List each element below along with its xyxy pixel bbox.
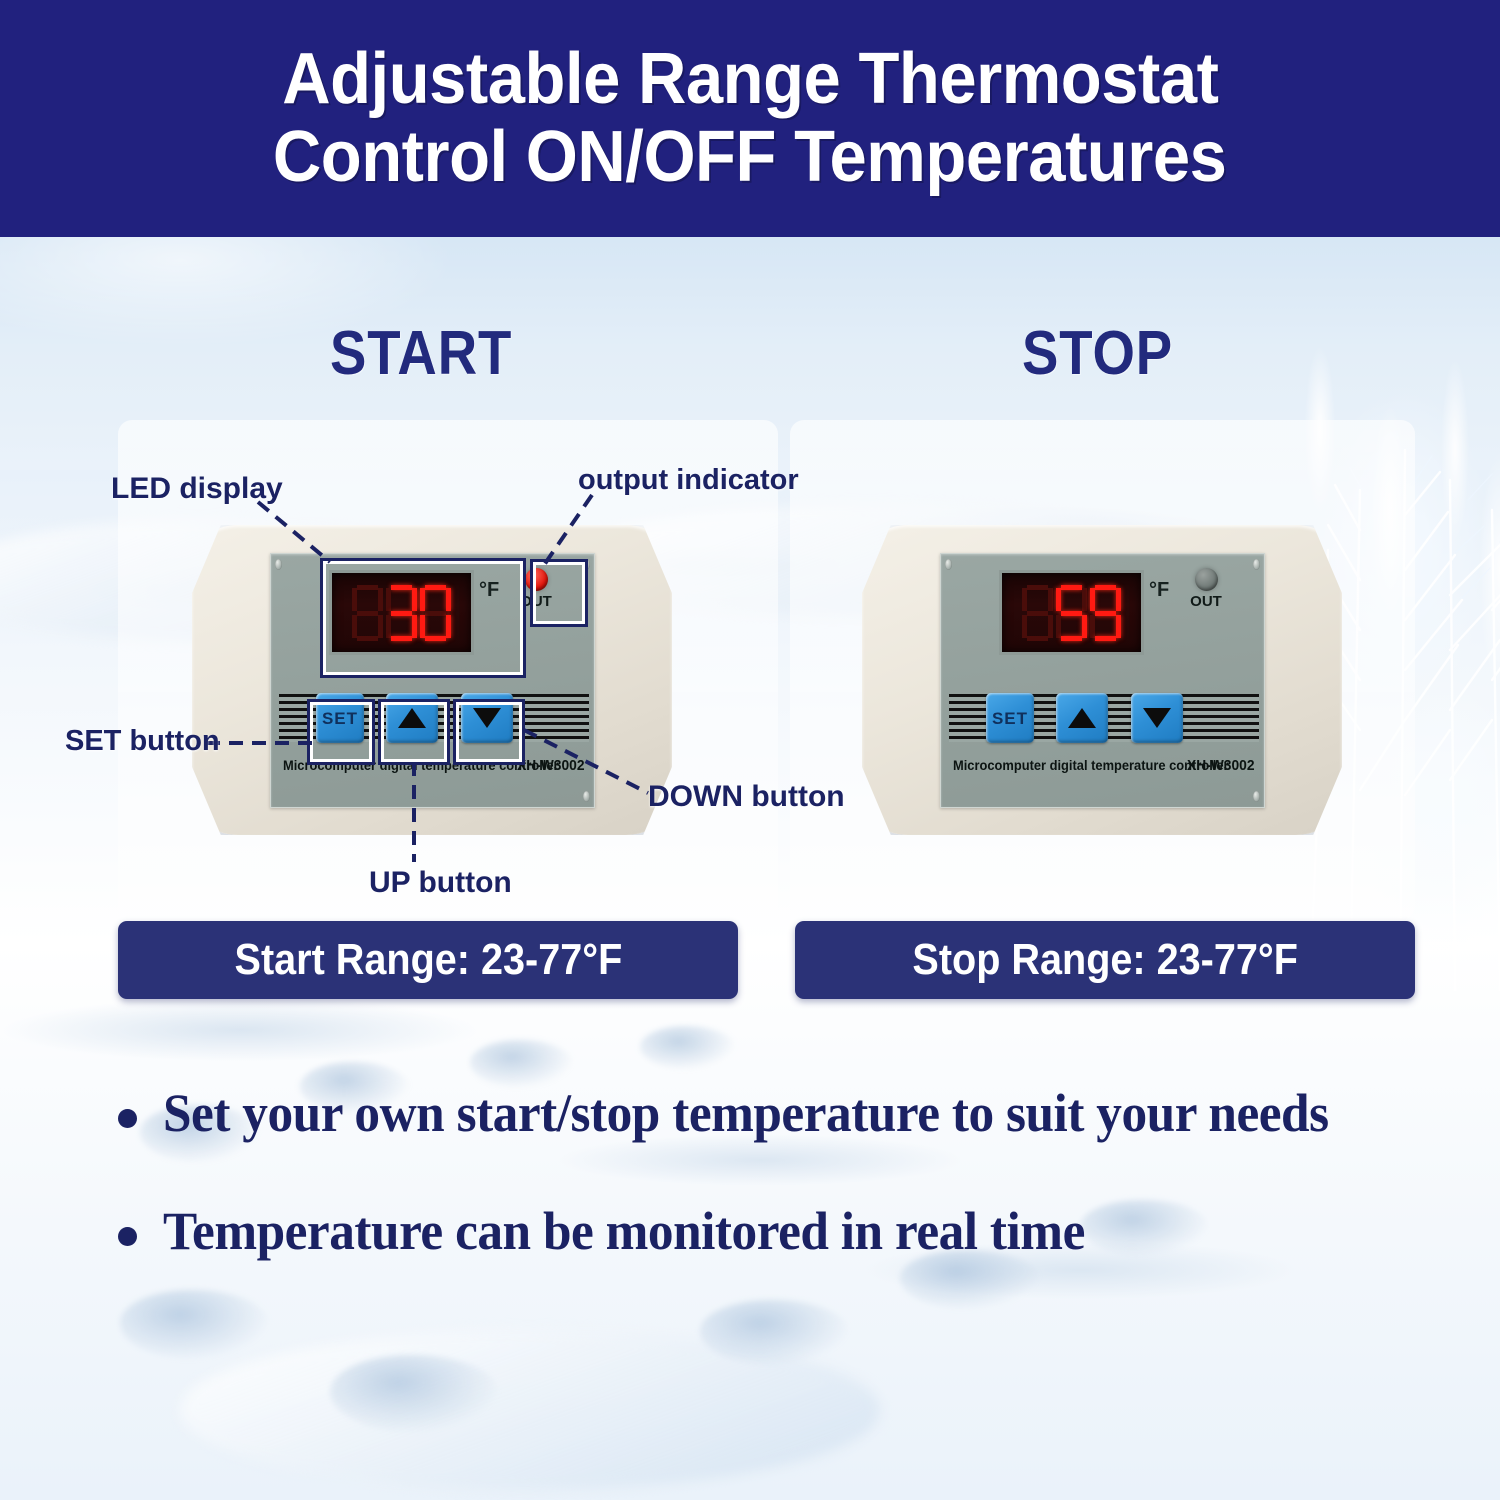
callout-down-button: DOWN button bbox=[648, 780, 845, 814]
down-arrow-icon bbox=[1143, 708, 1171, 728]
up-arrow-icon bbox=[398, 708, 426, 728]
callout-up-button: UP button bbox=[369, 866, 512, 900]
range-label-stop: Stop Range: 23-77°F bbox=[912, 935, 1298, 985]
banner-title-line-2: Control ON/OFF Temperatures bbox=[273, 119, 1226, 197]
banner-title-line-1: Adjustable Range Thermostat bbox=[282, 41, 1218, 119]
up-button bbox=[386, 693, 438, 743]
callout-output-indicator: output indicator bbox=[578, 464, 799, 497]
callout-set-button: SET button bbox=[65, 725, 220, 758]
header-banner: Adjustable Range Thermostat Control ON/O… bbox=[0, 0, 1500, 237]
led-digits bbox=[332, 573, 471, 652]
device-model-text: XH-W3002 bbox=[517, 757, 584, 774]
set-button-label: SET bbox=[322, 710, 358, 727]
feature-bullet-list: Set your own start/stop temperature to s… bbox=[118, 1083, 1448, 1320]
range-bar-stop: Stop Range: 23-77°F bbox=[795, 921, 1415, 999]
led-digits bbox=[1002, 573, 1141, 652]
output-indicator: OUT bbox=[1181, 568, 1231, 609]
led-display bbox=[999, 570, 1144, 655]
unit-label: °F bbox=[479, 580, 499, 600]
up-button bbox=[1056, 693, 1108, 743]
screw bbox=[945, 559, 952, 570]
output-indicator-label: OUT bbox=[1181, 594, 1231, 609]
screw bbox=[583, 791, 590, 802]
output-indicator-label: OUT bbox=[511, 594, 561, 609]
list-item: Set your own start/stop temperature to s… bbox=[118, 1083, 1448, 1143]
bullet-text: Temperature can be monitored in real tim… bbox=[163, 1201, 1085, 1261]
bullet-dot-icon bbox=[118, 1227, 137, 1246]
down-arrow-icon bbox=[473, 708, 501, 728]
screw bbox=[275, 559, 282, 570]
led-digit-2 bbox=[420, 585, 451, 641]
led-digit-1 bbox=[1056, 585, 1087, 641]
device-faceplate: °F OUT SET Microcomputer digital tempera… bbox=[270, 553, 595, 808]
range-label-start: Start Range: 23-77°F bbox=[234, 935, 622, 985]
range-bar-start: Start Range: 23-77°F bbox=[118, 921, 738, 999]
section-title-stop: STOP bbox=[1022, 318, 1173, 389]
set-button-label: SET bbox=[992, 710, 1028, 727]
set-button: SET bbox=[316, 693, 364, 743]
led-digit-2 bbox=[1090, 585, 1121, 641]
output-indicator-lamp bbox=[525, 568, 548, 591]
down-button bbox=[461, 693, 513, 743]
list-item: Temperature can be monitored in real tim… bbox=[118, 1201, 1448, 1261]
thermostat-device-start: °F OUT SET Microcomputer digital tempera… bbox=[192, 525, 672, 835]
set-button: SET bbox=[986, 693, 1034, 743]
screw bbox=[1253, 559, 1260, 570]
led-digit-blank bbox=[1022, 585, 1053, 641]
led-display bbox=[329, 570, 474, 655]
footprint bbox=[640, 1026, 736, 1070]
thermostat-device-stop: °F OUT SET Microcomputer digital tempera… bbox=[862, 525, 1342, 835]
up-arrow-icon bbox=[1068, 708, 1096, 728]
bullet-dot-icon bbox=[118, 1109, 137, 1128]
output-indicator-lamp bbox=[1195, 568, 1218, 591]
screw bbox=[583, 559, 590, 570]
section-title-start: START bbox=[330, 318, 512, 389]
device-faceplate: °F OUT SET Microcomputer digital tempera… bbox=[940, 553, 1265, 808]
unit-label: °F bbox=[1149, 580, 1169, 600]
device-model-text: XH-W3002 bbox=[1187, 757, 1254, 774]
down-button bbox=[1131, 693, 1183, 743]
bullet-text: Set your own start/stop temperature to s… bbox=[163, 1083, 1329, 1143]
screw bbox=[1253, 791, 1260, 802]
led-digit-blank bbox=[352, 585, 383, 641]
callout-led-display: LED display bbox=[111, 472, 283, 506]
led-digit-1 bbox=[386, 585, 417, 641]
output-indicator: OUT bbox=[511, 568, 561, 609]
